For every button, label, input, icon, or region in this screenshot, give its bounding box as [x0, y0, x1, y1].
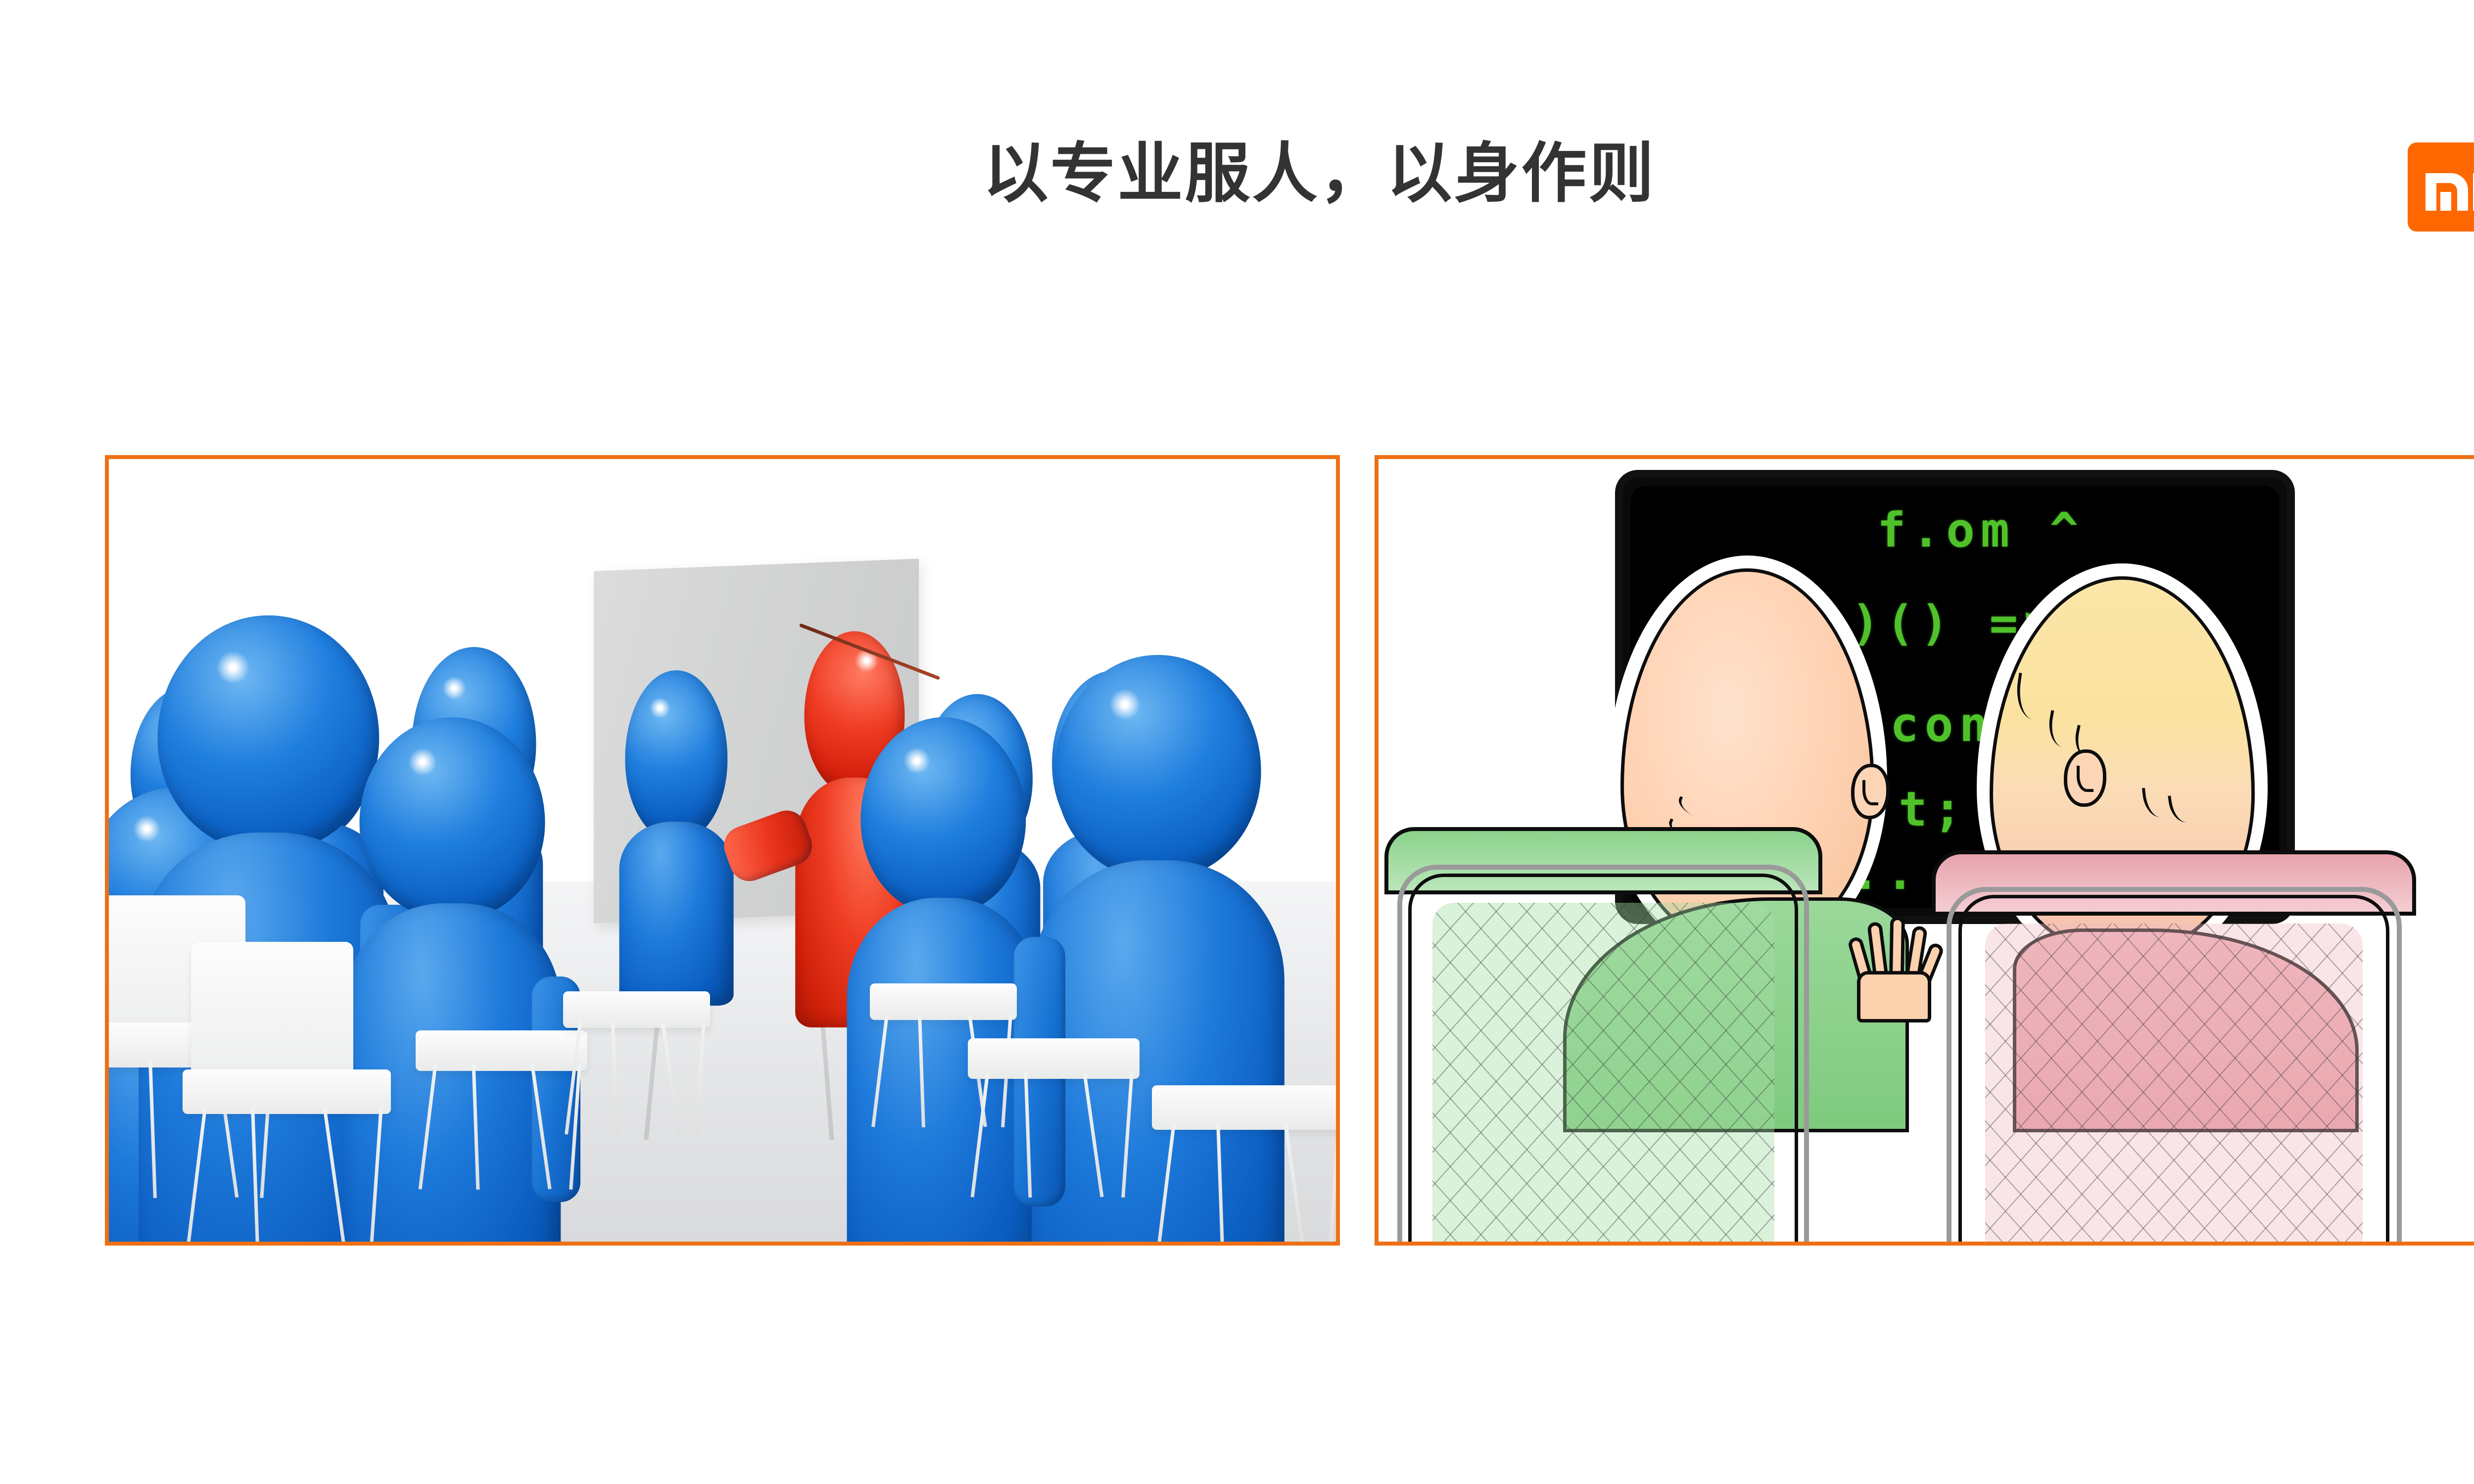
chair-seat	[870, 983, 1017, 1020]
gesturing-hand	[1857, 928, 1931, 1022]
office-chair-pink	[1932, 850, 2416, 1242]
mi-logo-mark	[2408, 142, 2474, 232]
figure-head	[625, 670, 727, 841]
classroom-chair	[1152, 1085, 1336, 1242]
chair-seat	[968, 1038, 1140, 1079]
mentoring-cartoon: f.om ^ )() => con )t; i ·· =	[1375, 455, 2474, 1246]
person-left-ear	[1851, 764, 1890, 819]
classroom-scene	[109, 459, 1336, 1242]
chair-mesh	[1432, 903, 1774, 1242]
xiaomi-mi-logo	[2408, 142, 2474, 232]
figure-head	[1055, 655, 1261, 880]
figure-torso	[619, 822, 734, 1006]
figure-head	[861, 717, 1026, 915]
palm	[1857, 971, 1931, 1023]
chair-seat	[183, 1069, 391, 1114]
classroom-chair	[416, 1030, 587, 1187]
person-right-ear	[2064, 749, 2106, 807]
office-chair-green	[1384, 827, 1822, 1242]
figure-head	[360, 717, 545, 920]
cartoon-scene: f.om ^ )() => con )t; i ·· =	[1379, 459, 2474, 1242]
code-line: con	[1890, 697, 1994, 752]
chair-seat	[563, 991, 711, 1028]
page-title: 以专业服人，以身作则	[0, 133, 2474, 214]
classroom-training-photo	[105, 455, 1340, 1246]
chair-mesh	[1985, 924, 2363, 1242]
chair-seat	[1152, 1085, 1336, 1130]
chair-back	[191, 942, 354, 1083]
chair-seat	[416, 1030, 587, 1071]
code-line: f.om ^	[1877, 503, 2085, 558]
classroom-chair	[183, 1069, 391, 1242]
classroom-chair	[968, 1038, 1140, 1195]
classroom-chair	[563, 991, 711, 1132]
audience-figure	[618, 670, 735, 999]
